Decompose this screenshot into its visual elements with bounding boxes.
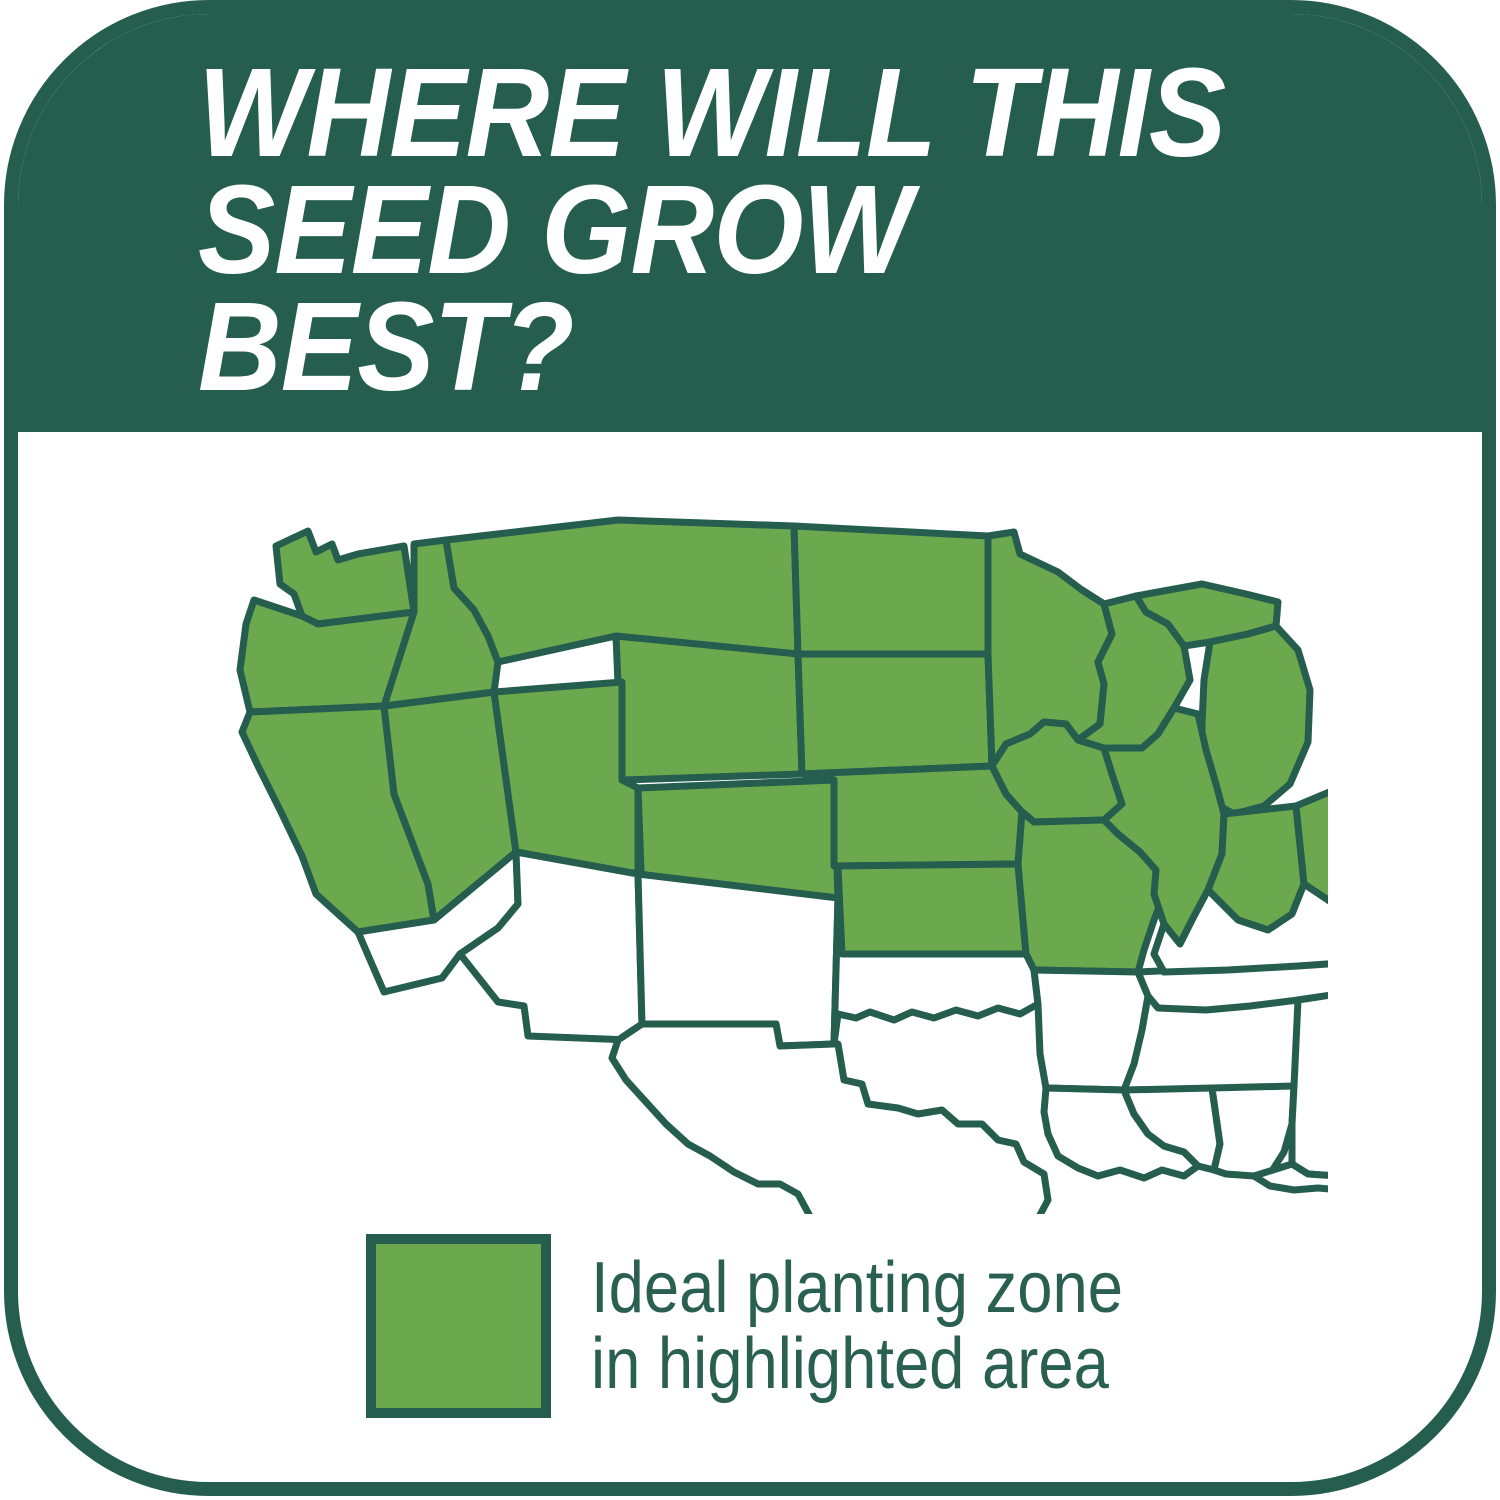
state-new-mexico: [638, 874, 838, 1046]
state-arkansas: [1034, 970, 1148, 1090]
infographic-root: WHERE WILL THIS SEED GROW BEST?: [0, 0, 1500, 1500]
us-map: [198, 484, 1328, 1214]
legend-color-swatch: [366, 1234, 551, 1418]
state-kansas: [838, 864, 1026, 954]
state-south-dakota: [798, 654, 992, 774]
state-utah: [494, 682, 638, 874]
card-frame: WHERE WILL THIS SEED GROW BEST?: [4, 0, 1496, 1496]
header-banner: WHERE WILL THIS SEED GROW BEST?: [4, 0, 1496, 432]
state-georgia: [1292, 994, 1328, 1176]
map-legend: Ideal planting zone in highlighted area: [366, 1234, 1195, 1418]
state-north-dakota: [794, 526, 988, 654]
state-washington: [276, 531, 414, 624]
us-map-svg: [198, 484, 1328, 1214]
state-texas: [612, 1024, 1048, 1214]
state-nebraska: [802, 766, 1022, 866]
state-wyoming: [616, 636, 802, 780]
legend-label: Ideal planting zone in highlighted area: [591, 1250, 1123, 1403]
page-title: WHERE WILL THIS SEED GROW BEST?: [198, 54, 1284, 406]
state-alabama: [1212, 1086, 1294, 1176]
